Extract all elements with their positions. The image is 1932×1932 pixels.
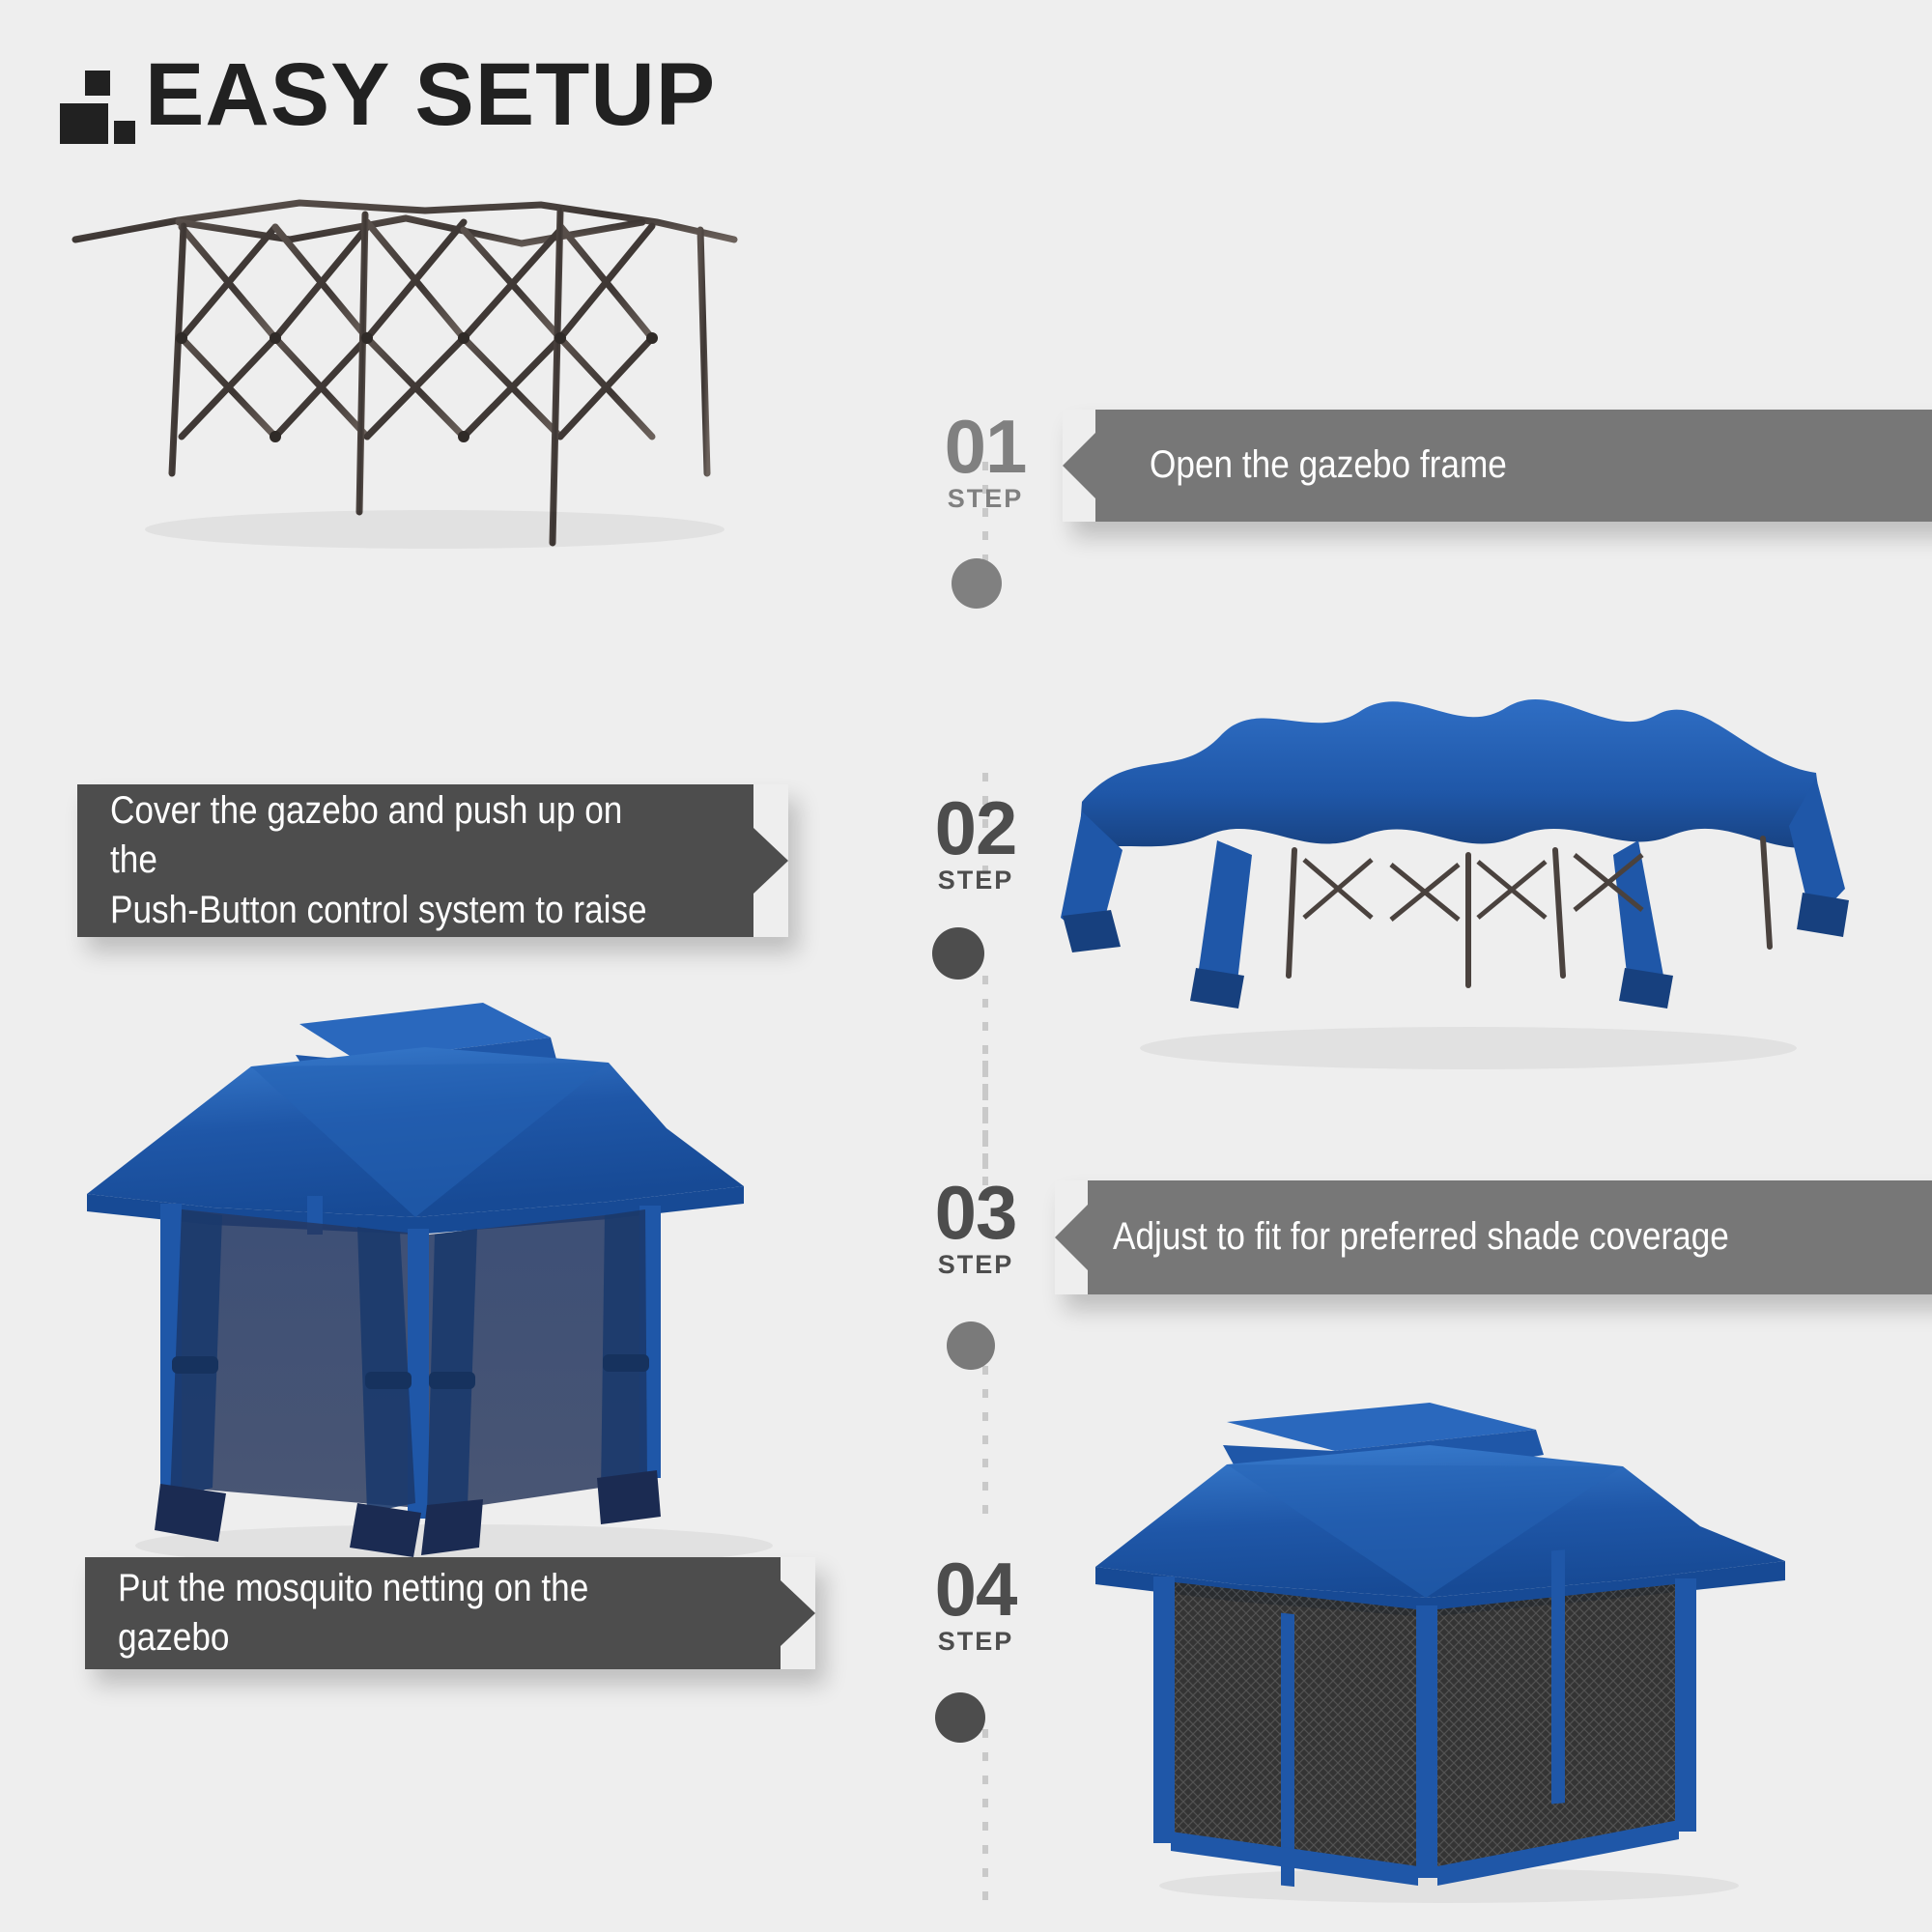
step-03-callout[interactable]: Adjust to fit for preferred shade covera…	[1055, 1180, 1932, 1294]
step-04-callout[interactable]: Put the mosquito netting on the gazebo	[85, 1557, 815, 1669]
timeline-segment-5	[982, 1729, 988, 1903]
step-01-text: Open the gazebo frame	[1150, 440, 1507, 490]
step-01-number: 01	[903, 411, 1067, 482]
step-03-dot	[947, 1321, 995, 1370]
gazebo-raised-with-netting-photo	[68, 966, 840, 1584]
timeline-segment-4	[982, 1343, 988, 1517]
step-03-label: STEP	[894, 1250, 1058, 1280]
step-02-label: STEP	[894, 866, 1058, 895]
step-04-label: STEP	[894, 1627, 1058, 1657]
step-03-text: Adjust to fit for preferred shade covera…	[1113, 1212, 1729, 1262]
gazebo-full-mesh-walls-photo	[1082, 1391, 1826, 1913]
step-02-dot	[932, 927, 984, 980]
step-03-number: 03	[894, 1177, 1058, 1248]
gazebo-frame-folded-photo	[58, 184, 763, 570]
infographic-canvas: EASY SETUP	[0, 0, 1932, 1932]
step-04-text: Put the mosquito netting on the gazebo	[118, 1564, 672, 1662]
step-01-number-block: 01 STEP	[903, 411, 1067, 514]
timeline-segment-3b	[982, 1061, 988, 1186]
step-02-callout[interactable]: Cover the gazebo and push up on the Push…	[77, 784, 788, 937]
gazebo-canopy-draped-photo	[1053, 657, 1864, 1082]
step-01-dot	[952, 558, 1002, 609]
step-01-label: STEP	[903, 484, 1067, 514]
step-02-text: Cover the gazebo and push up on the Push…	[110, 786, 647, 935]
step-01-callout[interactable]: Open the gazebo frame	[1063, 410, 1932, 522]
step-04-dot	[935, 1692, 985, 1743]
step-02-number-block: 02 STEP	[894, 792, 1058, 895]
step-04-number-block: 04 STEP	[894, 1553, 1058, 1657]
step-02-number: 02	[894, 792, 1058, 864]
step-03-number-block: 03 STEP	[894, 1177, 1058, 1280]
step-04-number: 04	[894, 1553, 1058, 1625]
blocks-logo-icon	[60, 61, 120, 136]
page-title: EASY SETUP	[60, 54, 716, 136]
page-title-text: EASY SETUP	[145, 54, 716, 136]
